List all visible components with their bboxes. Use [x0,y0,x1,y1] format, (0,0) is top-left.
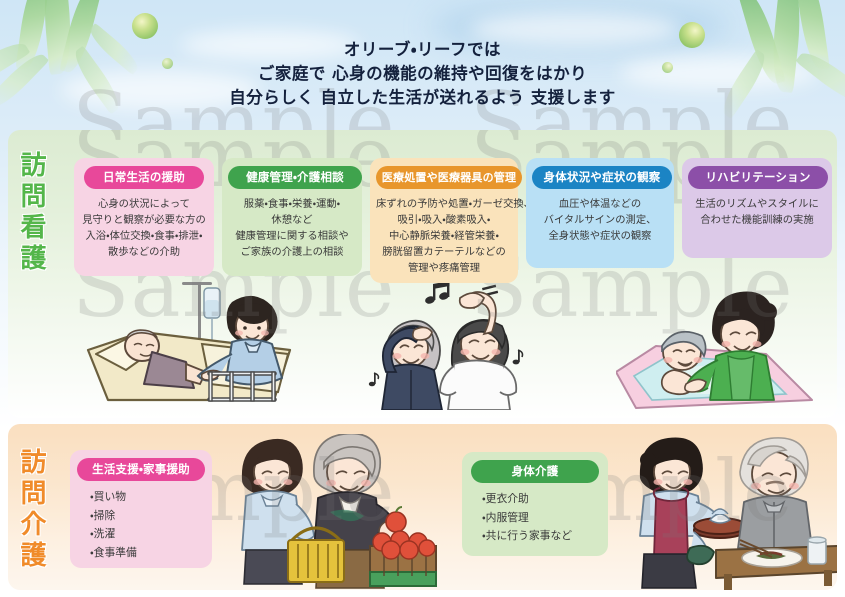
card-symptom-observation[interactable]: 身体状況や症状の観察 血圧や体温などの バイタルサインの測定、 全身状態や症状の… [526,158,674,268]
card-body-health-management: 服薬・食事・栄養・運動・ 休憩など 健康管理に関する相談や ご家族の介護上の相談 [228,196,356,260]
body-line: 休憩など [228,212,356,228]
illustration-exercise-pair [356,280,566,410]
card-bullets-living-support: ・買い物 ・掃除 ・洗濯 ・食事準備 [76,488,206,562]
card-title-rehabilitation: リハビリテーション [688,166,828,189]
body-line: 生活のリズムやスタイルに [688,196,826,212]
body-line: 合わせた機能訓練の実施 [688,212,826,228]
card-body-symptom-observation: 血圧や体温などの バイタルサインの測定、 全身状態や症状の観察 [532,196,668,244]
body-line: ご家族の介護上の相談 [228,244,356,260]
bedside-care-drawing [82,280,317,410]
card-bullets-physical-care: ・更衣介助 ・内服管理 ・共に行う家事など [468,490,602,546]
bathing-assist-drawing [616,290,831,412]
body-line: 血圧や体温などの [532,196,668,212]
bullet-item: ・更衣介助 [482,490,602,509]
body-line: 中心静脈栄養・経管栄養・ [376,228,512,244]
body-line: 服薬・食事・栄養・運動・ [228,196,356,212]
body-line: 散歩などの介助 [80,244,208,260]
card-title-medical-treatment: 医療処置や医療器具の管理 [376,166,522,189]
card-rehabilitation[interactable]: リハビリテーション 生活のリズムやスタイルに 合わせた機能訓練の実施 [682,158,832,258]
body-line: 管理や疼痛管理 [376,260,512,276]
body-line: 心身の状況によって [80,196,208,212]
meal-serving-drawing [632,436,837,590]
body-line: バイタルサインの測定、 [532,212,668,228]
page-title: オリーブ・リーフでは ご家庭で 心身の機能の維持や回復をはかり 自分らしく 自立… [0,38,845,110]
body-line: 全身状態や症状の観察 [532,228,668,244]
section-label-visiting-nursing: 訪問看護 [17,151,44,275]
exercise-pair-drawing [356,280,566,410]
bullet-item: ・洗濯 [90,525,206,544]
header-line: ご家庭で 心身の機能の維持や回復をはかり [0,62,845,86]
illustration-bathing-assist [616,290,831,412]
shopping-assist-drawing [230,434,446,590]
illustration-bedside-care [82,280,317,410]
card-physical-care[interactable]: 身体介護 ・更衣介助 ・内服管理 ・共に行う家事など [462,452,608,556]
card-title-physical-care: 身体介護 [471,460,599,483]
header-line: 自分らしく 自立した生活が送れるよう 支援します [0,86,845,110]
section-label-visiting-care: 訪問介護 [17,448,44,572]
header-line: オリーブ・リーフでは [0,38,845,62]
card-daily-living-support[interactable]: 日常生活の援助 心身の状況によって 見守りと観察が必要な方の 入浴・体位交換・食… [74,158,214,276]
body-line: 入浴・体位交換・食事・排泄・ [80,228,208,244]
illustration-meal-serving [632,436,837,590]
card-living-support[interactable]: 生活支援・家事援助 ・買い物 ・掃除 ・洗濯 ・食事準備 [70,450,212,568]
card-title-daily-living: 日常生活の援助 [84,166,204,189]
card-body-daily-living: 心身の状況によって 見守りと観察が必要な方の 入浴・体位交換・食事・排泄・ 散歩… [80,196,208,260]
body-line: 床ずれの予防や処置・ガーゼ交換、 [376,196,512,212]
bullet-item: ・買い物 [90,488,206,507]
card-body-medical-treatment: 床ずれの予防や処置・ガーゼ交換、 吸引・吸入・酸素吸入・ 中心静脈栄養・経管栄養… [376,196,512,276]
card-health-management[interactable]: 健康管理・介護相談 服薬・食事・栄養・運動・ 休憩など 健康管理に関する相談や … [222,158,362,276]
body-line: 健康管理に関する相談や [228,228,356,244]
illustration-shopping-assist [230,434,446,590]
body-line: 吸引・吸入・酸素吸入・ [376,212,512,228]
body-line: 膀胱留置カテーテルなどの [376,244,512,260]
card-title-symptom-observation: 身体状況や症状の観察 [532,166,672,189]
card-medical-treatment[interactable]: 医療処置や医療器具の管理 床ずれの予防や処置・ガーゼ交換、 吸引・吸入・酸素吸入… [370,158,518,283]
card-title-living-support: 生活支援・家事援助 [77,458,205,481]
card-title-health-management: 健康管理・介護相談 [228,166,362,189]
bullet-item: ・共に行う家事など [482,527,602,546]
card-body-rehabilitation: 生活のリズムやスタイルに 合わせた機能訓練の実施 [688,196,826,228]
olive-berry-icon [132,13,158,39]
music-note-icon [424,281,450,305]
bullet-item: ・内服管理 [482,509,602,528]
body-line: 見守りと観察が必要な方の [80,212,208,228]
bullet-item: ・掃除 [90,507,206,526]
bullet-item: ・食事準備 [90,544,206,563]
infographic-page: Sample Sample オリーブ・リーフでは ご家庭で 心身の機能の維持や回… [0,0,845,597]
